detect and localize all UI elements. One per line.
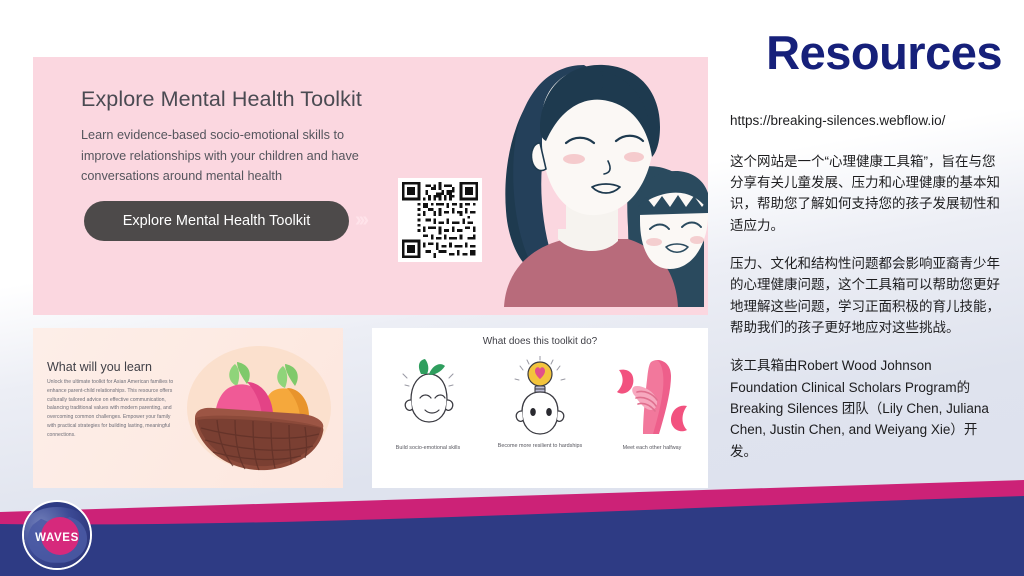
holding-hands-icon [613,356,691,440]
learn-body-text: Unlock the ultimate toolkit for Asian Am… [47,378,179,439]
lightbulb-head-icon [501,356,579,440]
learn-heading: What will you learn [47,360,152,374]
logo-label: WAVES [24,532,90,544]
description-paragraph-2: 压力、文化和结构性问题都会影响亚裔青少年的心理健康问题，这个工具箱可以帮助您更好… [730,253,1002,338]
description-paragraph-1: 这个网站是一个“心理健康工具箱”，旨在与您分享有关儿童发展、压力和心理健康的基本… [730,151,1002,236]
qr-code-icon[interactable] [398,178,482,262]
toolkit-item-1: Build socio-emotional skills [372,356,484,486]
toolkit-items: Build socio-emotional skills [372,356,708,486]
mother-child-illustration [488,57,708,315]
hero-heading: Explore Mental Health Toolkit [81,87,362,112]
description-paragraph-3: 该工具箱由Robert Wood Johnson Foundation Clin… [730,355,1002,462]
page-title: Resources [730,28,1002,77]
toolkit-heading: What does this toolkit do? [372,336,708,347]
waves-logo: WAVES [22,500,92,570]
what-does-toolkit-do-card: What does this toolkit do? [372,328,708,488]
resources-column: Resources https://breaking-silences.webf… [730,28,1002,479]
hero-subheading: Learn evidence-based socio-emotional ski… [81,125,381,187]
toolkit-caption-3: Meet each other halfway [609,444,695,452]
slide-canvas: WAVES [0,0,1024,576]
toolkit-website-link[interactable]: https://breaking-silences.webflow.io/ [730,111,1002,131]
fruit-basket-illustration [179,336,339,482]
explore-toolkit-button[interactable]: Explore Mental Health Toolkit [84,201,349,241]
chevron-right-icon: ››› [355,209,366,232]
toolkit-caption-2: Become more resilient to hardships [497,442,583,450]
toolkit-caption-1: Build socio-emotional skills [385,444,471,452]
hero-screenshot-card: Explore Mental Health Toolkit Learn evid… [33,57,708,315]
what-will-you-learn-card: What will you learn Unlock the ultimate … [33,328,343,488]
toolkit-item-2: Become more resilient to hardships [484,356,596,486]
toolkit-item-3: Meet each other halfway [596,356,708,486]
sprout-head-icon [389,356,467,440]
